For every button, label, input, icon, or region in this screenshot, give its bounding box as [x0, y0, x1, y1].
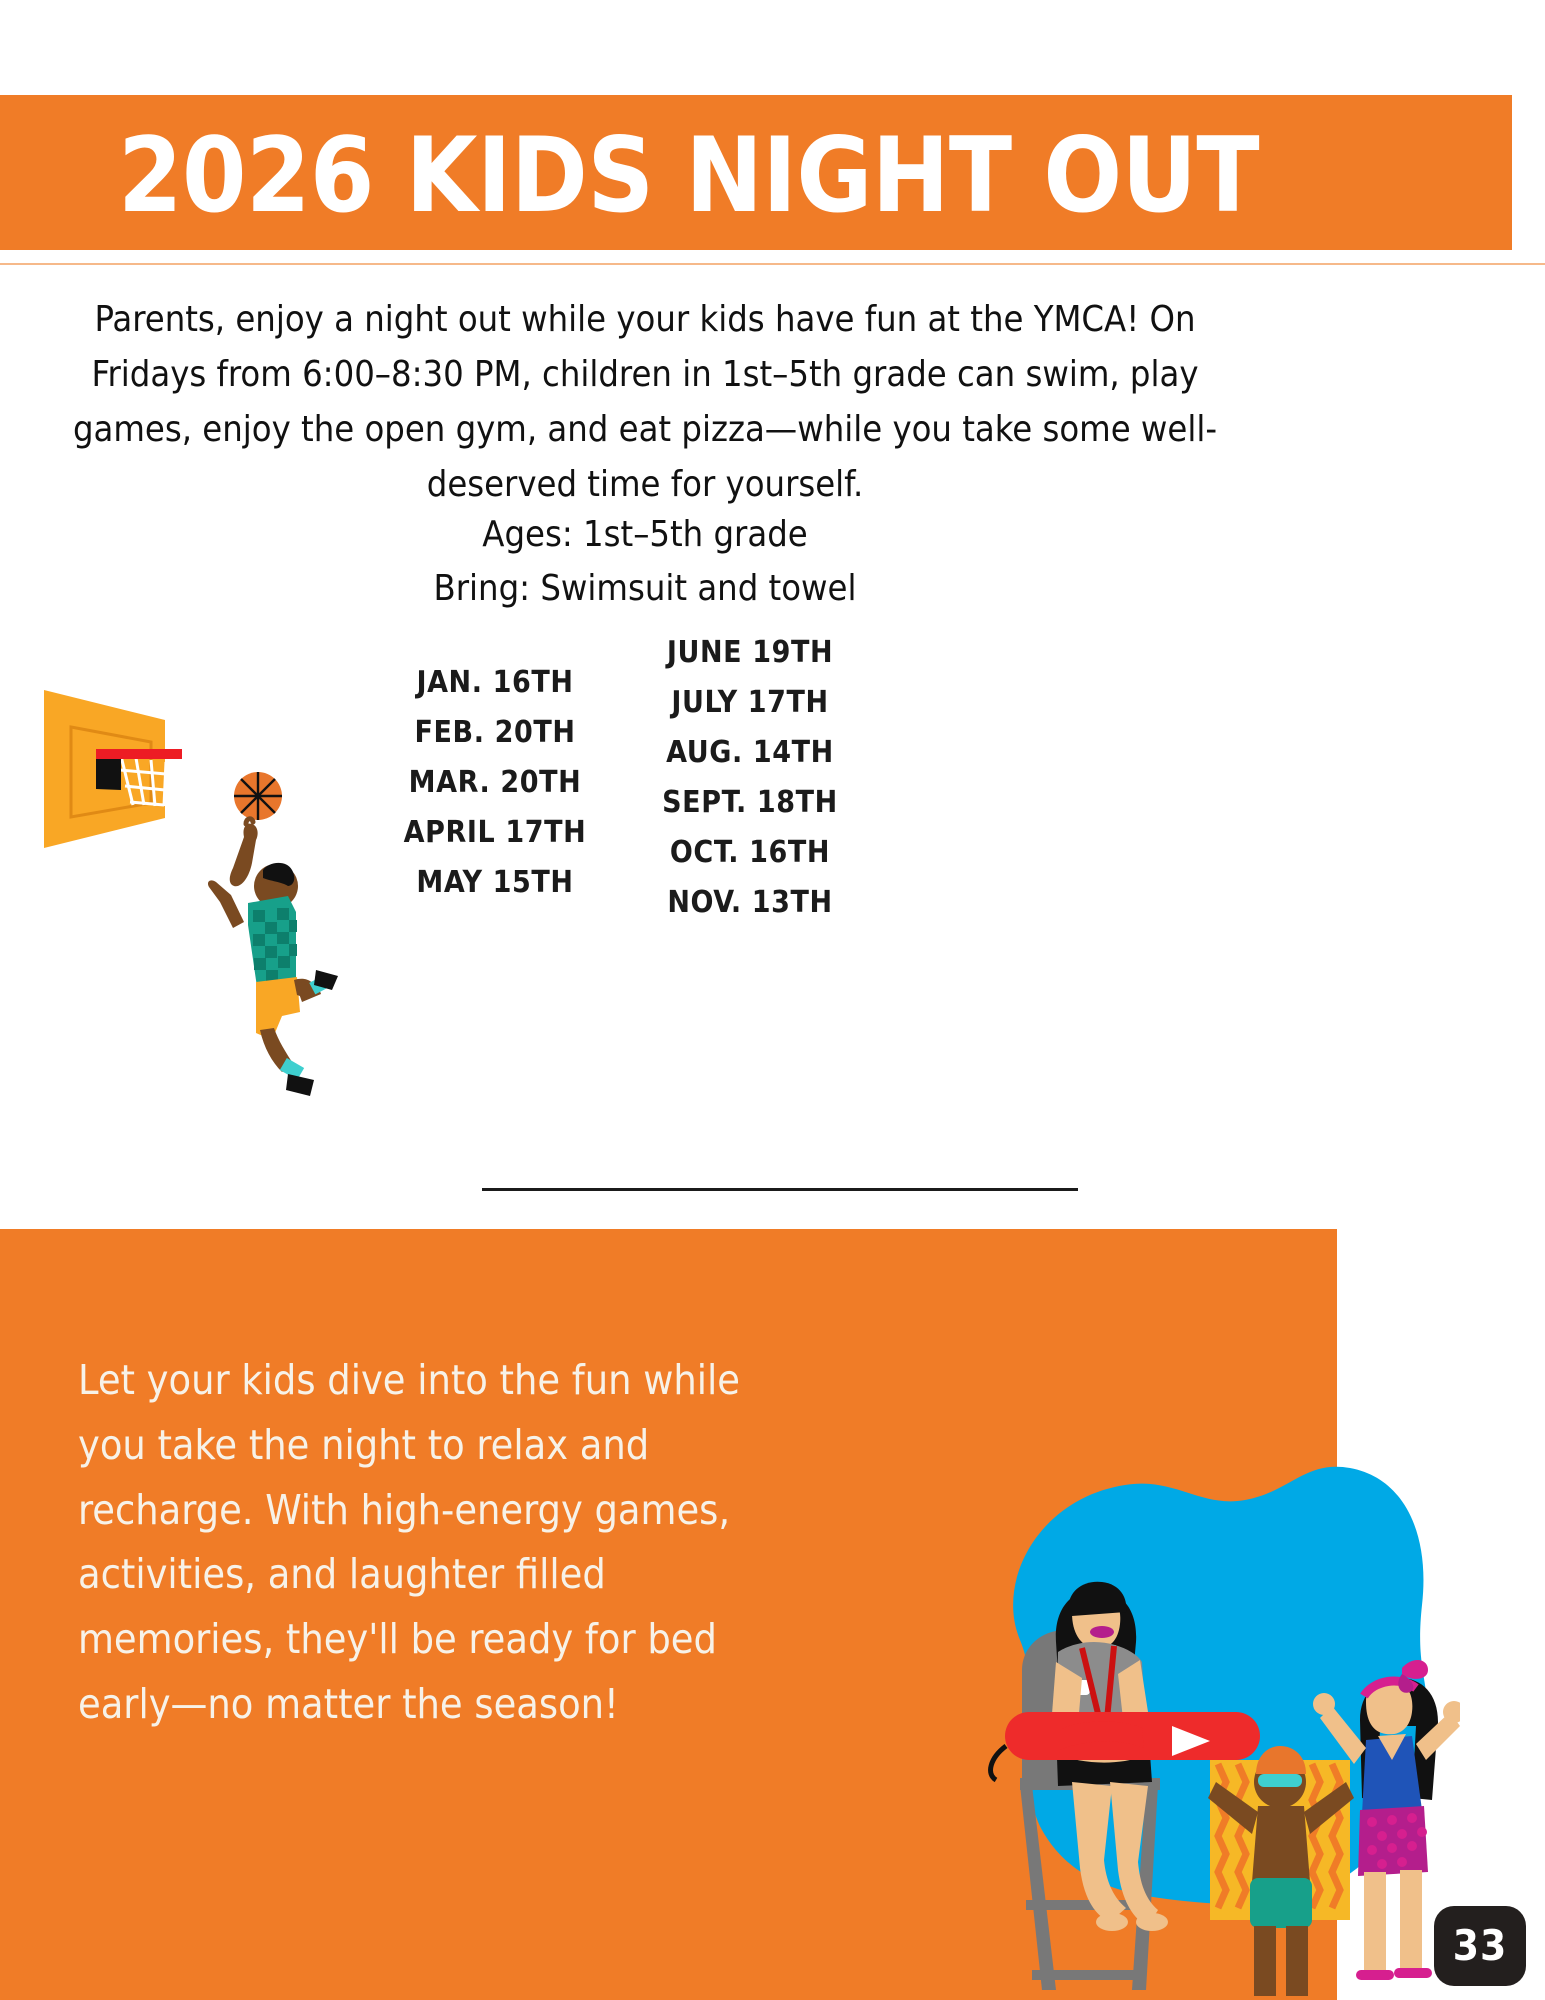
basketball-illustration	[20, 650, 340, 1100]
date-item: NOV. 13TH	[625, 878, 875, 928]
dates-columns: JAN. 16THFEB. 20THMAR. 20THAPRIL 17THMAY…	[380, 628, 890, 918]
dates-right-column: JUNE 19THJULY 17THAUG. 14THSEPT. 18THOCT…	[625, 628, 875, 929]
date-item: MAY 15TH	[380, 858, 610, 908]
page-number-badge: 33	[1434, 1906, 1526, 1986]
lower-paragraph: Let your kids dive into the fun while yo…	[78, 1348, 798, 1737]
page-title: 2026 KIDS NIGHT OUT	[118, 125, 1498, 228]
bring-line: Bring: Swimsuit and towel	[55, 568, 1235, 609]
hoop-rim	[96, 749, 182, 759]
date-item: FEB. 20TH	[380, 708, 610, 758]
header-divider	[0, 263, 1545, 265]
date-item: MAR. 20TH	[380, 758, 610, 808]
basketball-player	[208, 819, 338, 1096]
swim-trunks	[1250, 1878, 1312, 1928]
intro-paragraph: Parents, enjoy a night out while your ki…	[55, 292, 1235, 512]
date-item: JUNE 19TH	[625, 628, 875, 678]
dates-divider	[482, 1188, 1078, 1191]
date-item: JULY 17TH	[625, 678, 875, 728]
date-item: JAN. 16TH	[380, 658, 610, 708]
page-number-text: 33	[1453, 1925, 1508, 1967]
player-shoe-front	[286, 1074, 314, 1096]
boy-with-towel	[1208, 1746, 1354, 1996]
ages-line: Ages: 1st–5th grade	[55, 514, 1235, 555]
pool-illustration	[960, 1430, 1460, 2000]
flyer-page: 2026 KIDS NIGHT OUT Parents, enjoy a nig…	[0, 0, 1545, 2000]
dates-left-column: JAN. 16THFEB. 20THMAR. 20THAPRIL 17THMAY…	[380, 628, 610, 908]
date-item: APRIL 17TH	[380, 808, 610, 858]
date-item: OCT. 16TH	[625, 828, 875, 878]
date-item: AUG. 14TH	[625, 728, 875, 778]
date-item: SEPT. 18TH	[625, 778, 875, 828]
swim-goggles	[1258, 1774, 1302, 1787]
